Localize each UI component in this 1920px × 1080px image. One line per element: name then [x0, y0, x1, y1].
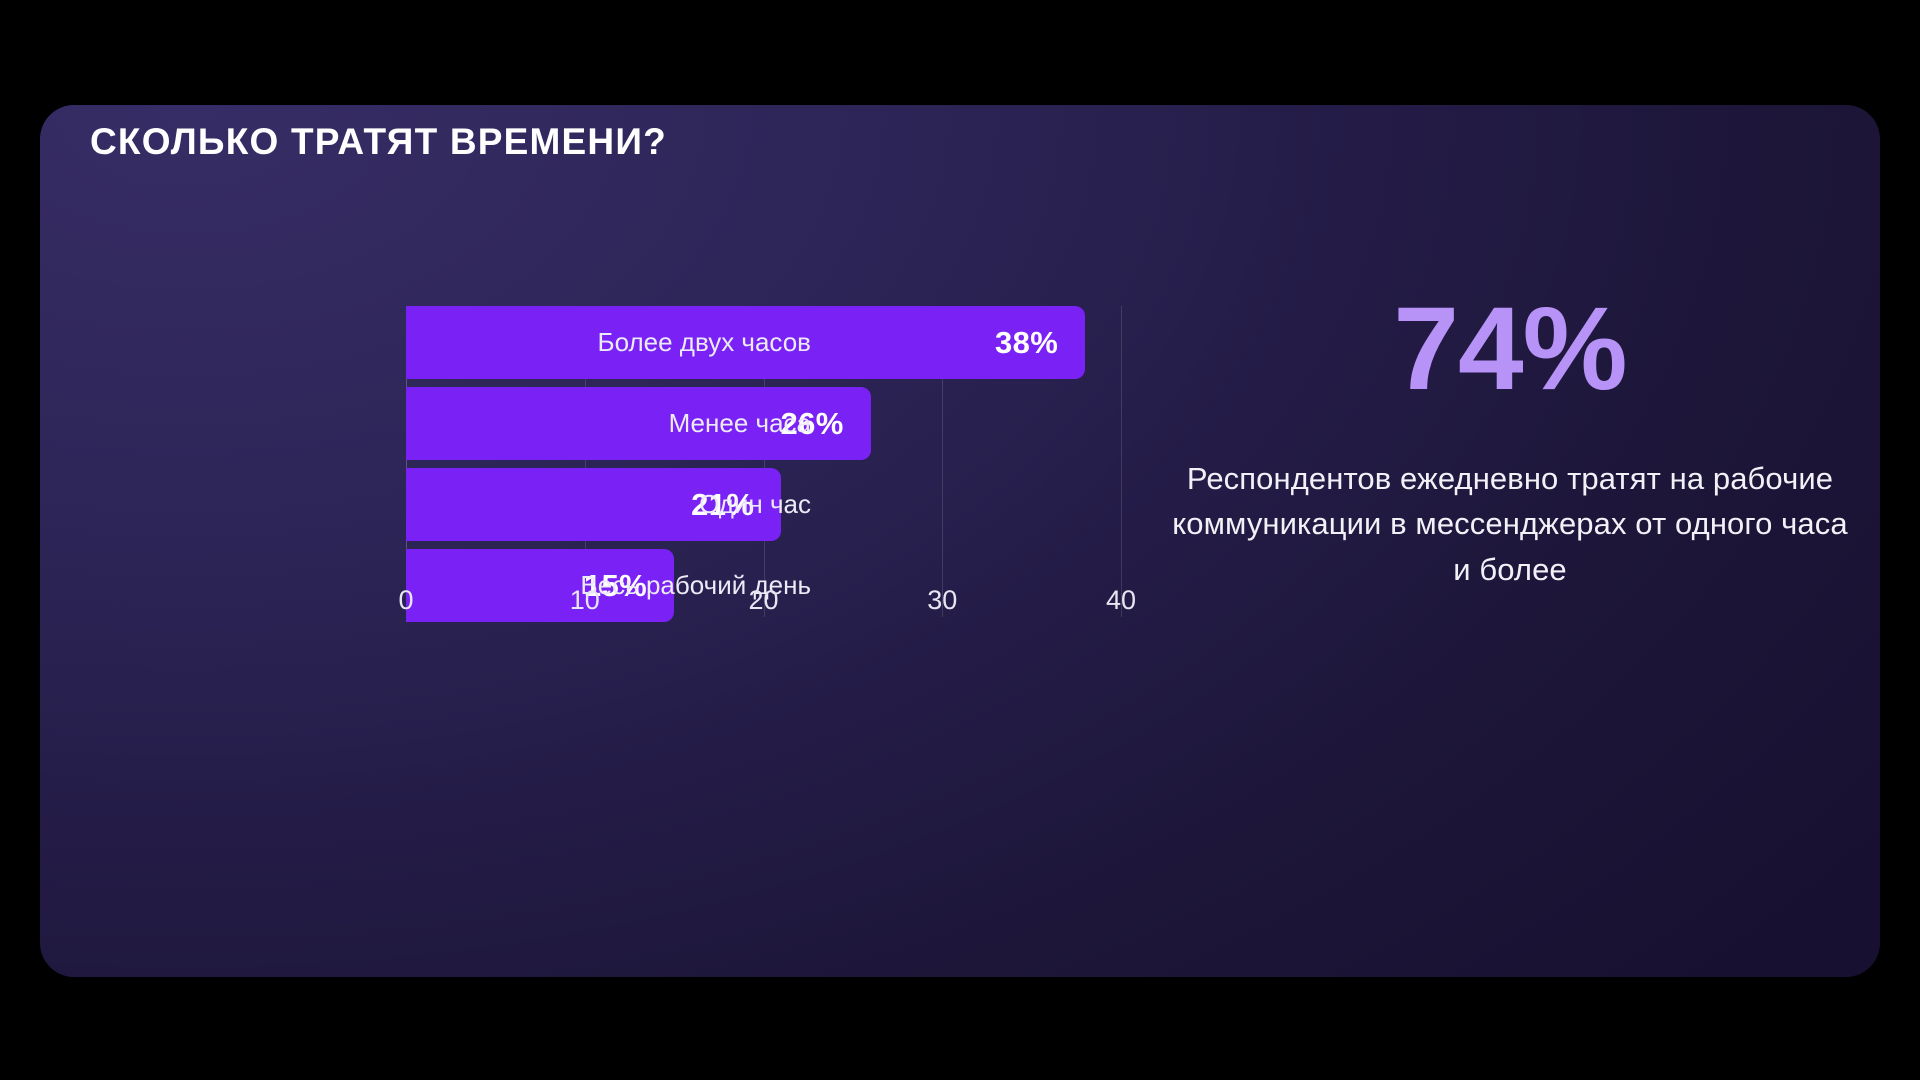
slide-canvas: СКОЛЬКО ТРАТЯТ ВРЕМЕНИ? 38%26%21%15% Бол…	[0, 0, 1920, 1080]
x-axis-tick-label: 40	[1106, 585, 1136, 616]
page-title: СКОЛЬКО ТРАТЯТ ВРЕМЕНИ?	[90, 121, 667, 163]
chart-gridline	[1121, 306, 1122, 617]
bar-value-label: 38%	[995, 327, 1058, 358]
x-axis-tick-label: 0	[398, 585, 413, 616]
bar-category-label: Более двух часов	[481, 306, 811, 379]
highlight-panel: 74% Респондентов ежедневно тратят на раб…	[1160, 290, 1860, 592]
highlight-description: Респондентов ежедневно тратят на рабочие…	[1160, 456, 1860, 592]
highlight-value: 74%	[1160, 290, 1860, 408]
bar-chart: 38%26%21%15% Более двух часовМенее часаО…	[60, 260, 1180, 680]
x-axis-tick-label: 30	[927, 585, 957, 616]
x-axis-tick-label: 20	[748, 585, 778, 616]
x-axis-tick-label: 10	[570, 585, 600, 616]
bar-category-label: Один час	[481, 468, 811, 541]
bar-category-label: Менее часа	[481, 387, 811, 460]
